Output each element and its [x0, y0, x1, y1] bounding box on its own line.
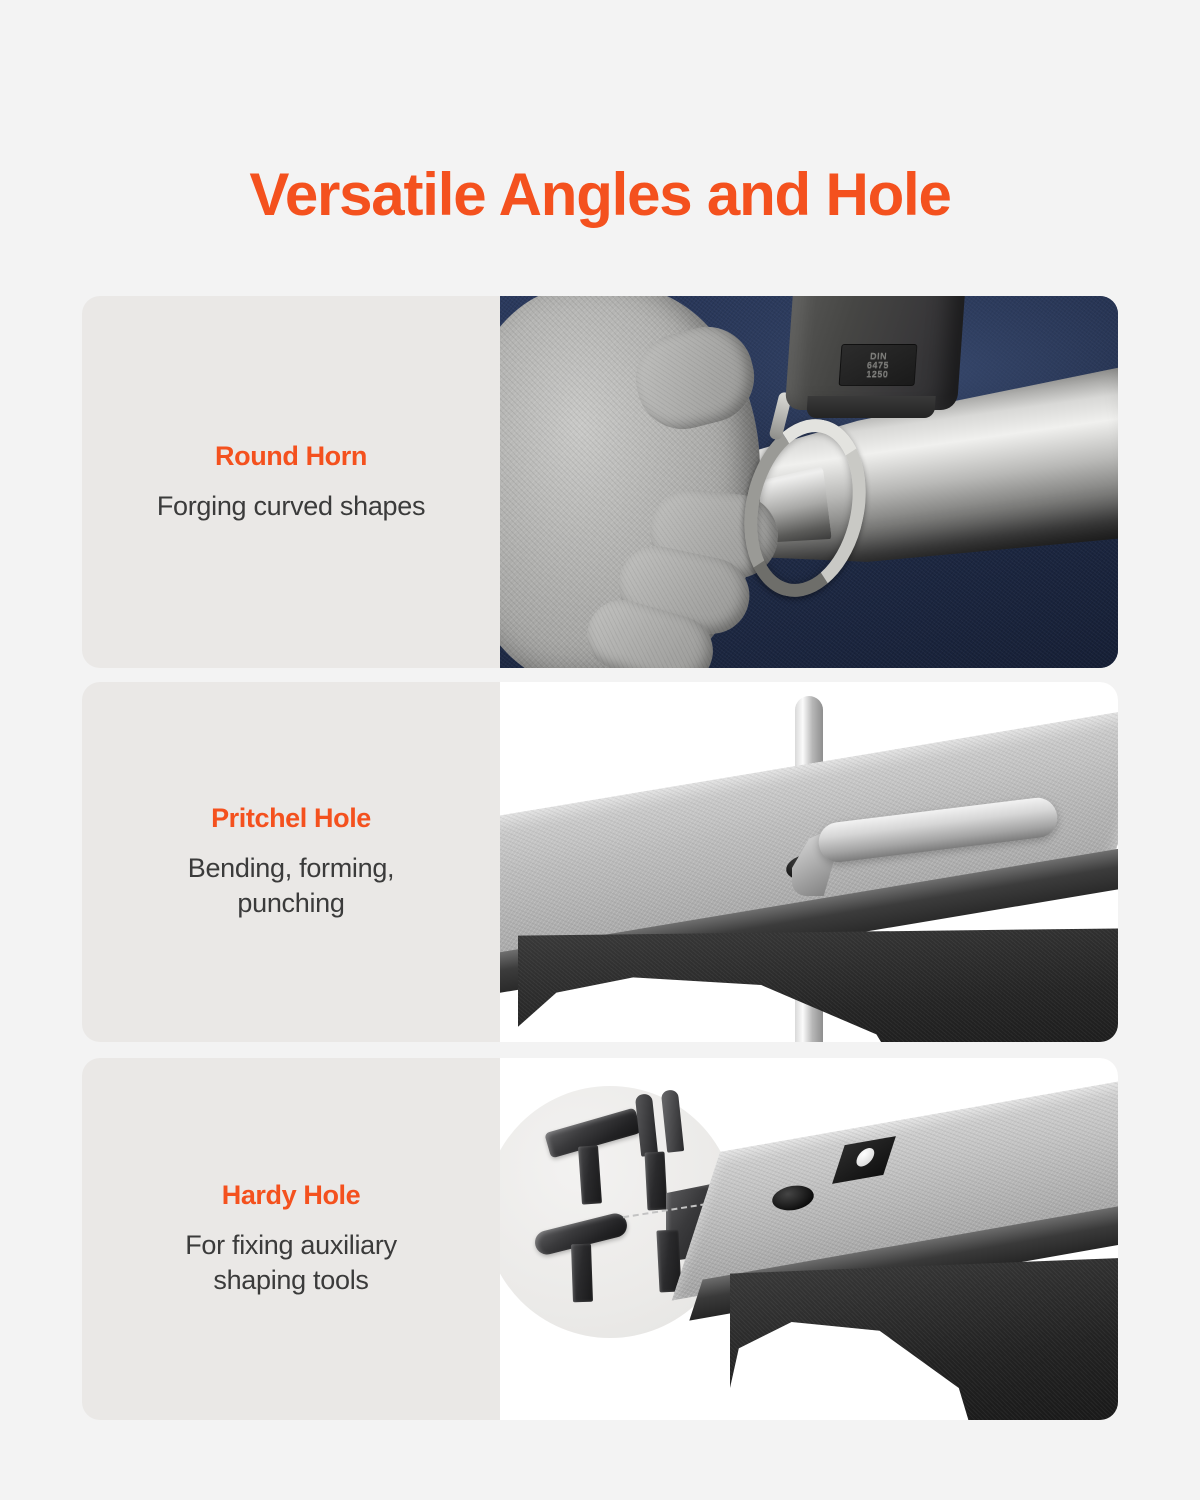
card-text-block: Pritchel Hole Bending, forming, punching: [82, 682, 500, 1042]
hammer-stamp-line: 1250: [866, 370, 889, 379]
card-description-line: For fixing auxiliary: [185, 1228, 397, 1263]
round-horn-photo: DIN 6475 1250: [500, 296, 1118, 668]
pritchel-hole-photo: [500, 682, 1118, 1042]
feature-card-hardy-hole: Hardy Hole For fixing auxiliary shaping …: [82, 1058, 1118, 1420]
card-text-block: Round Horn Forging curved shapes: [82, 296, 500, 668]
anvil-body: [730, 1256, 1118, 1420]
infographic-page: Versatile Angles and Hole Round Horn For…: [0, 0, 1200, 1500]
card-title: Hardy Hole: [222, 1180, 361, 1211]
page-title: Versatile Angles and Hole: [0, 163, 1200, 226]
card-text-block: Hardy Hole For fixing auxiliary shaping …: [82, 1058, 500, 1420]
tool-shank: [571, 1244, 593, 1303]
card-title: Pritchel Hole: [211, 803, 371, 834]
card-title: Round Horn: [215, 441, 367, 472]
tool-shank: [644, 1152, 667, 1211]
card-description-line: Bending, forming,: [188, 851, 395, 886]
hardy-hole-photo: [500, 1058, 1118, 1420]
card-description: For fixing auxiliary shaping tools: [185, 1228, 397, 1297]
card-description-line: shaping tools: [185, 1263, 397, 1298]
card-description: Bending, forming, punching: [188, 851, 395, 920]
feature-card-round-horn: Round Horn Forging curved shapes DIN 647…: [82, 296, 1118, 668]
tool-shank: [578, 1145, 602, 1204]
hammer-stamp: DIN 6475 1250: [839, 344, 918, 386]
feature-card-pritchel-hole: Pritchel Hole Bending, forming, punching: [82, 682, 1118, 1042]
card-description: Forging curved shapes: [157, 489, 425, 524]
card-description-line: punching: [188, 886, 395, 921]
